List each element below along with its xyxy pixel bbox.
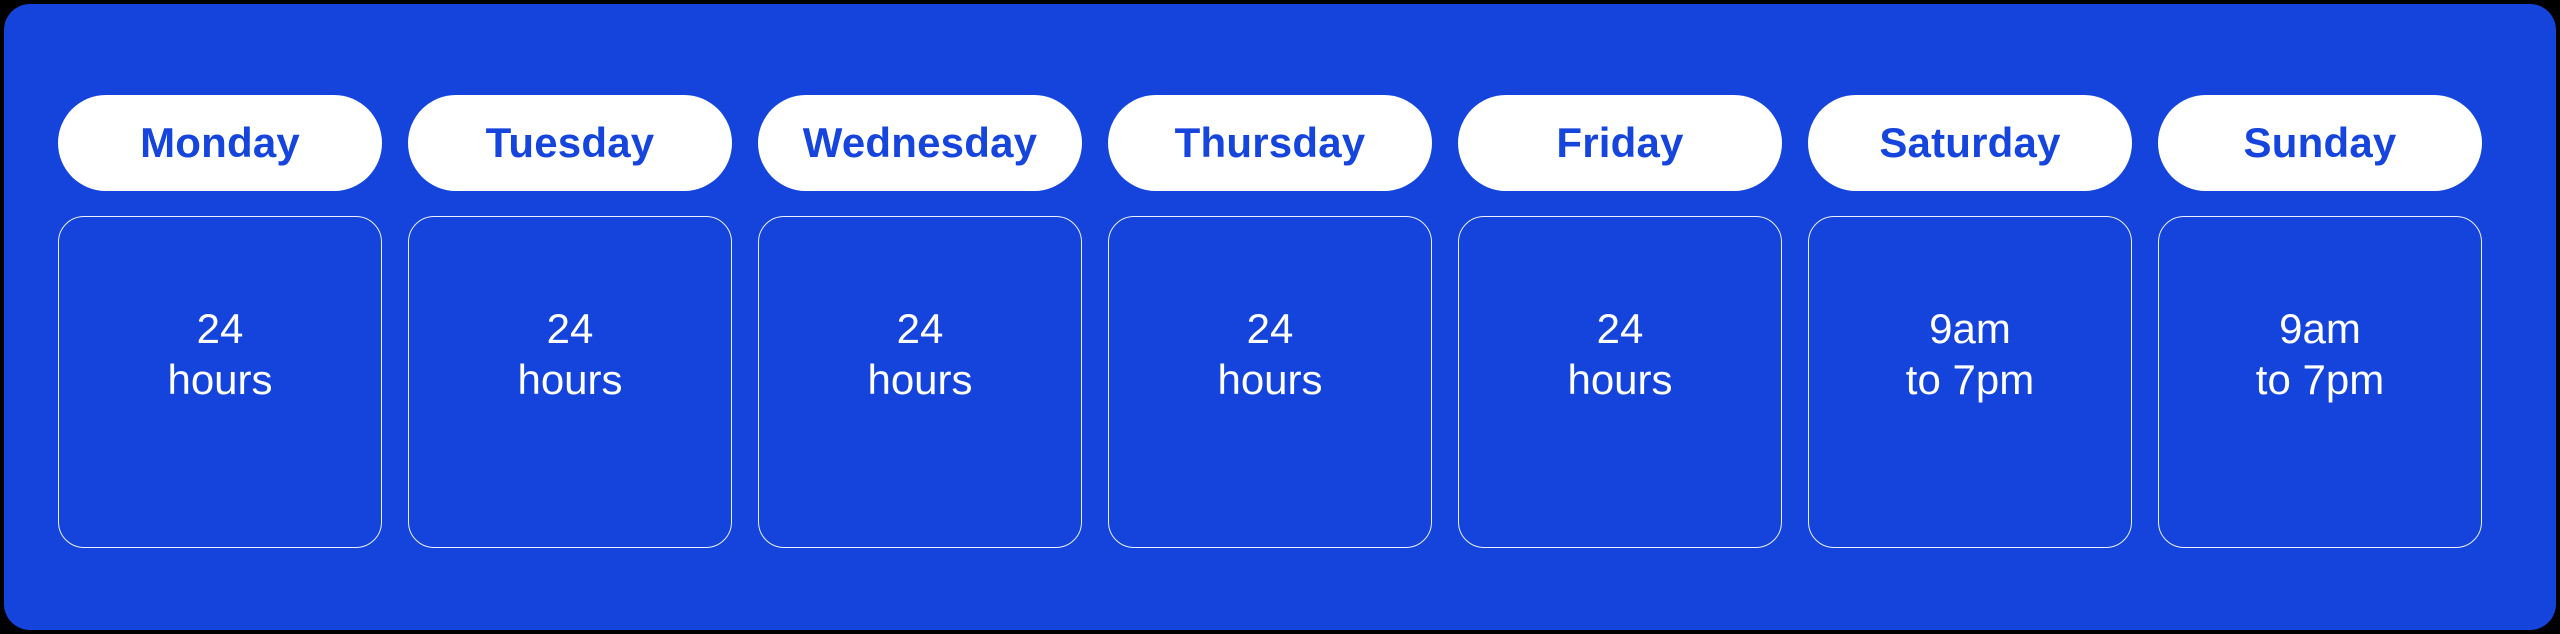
hours-card-saturday[interactable]: 9am to 7pm: [1808, 216, 2132, 548]
day-column-friday: Friday 24 hours: [1458, 95, 1782, 548]
day-pill-thursday[interactable]: Thursday: [1108, 95, 1432, 191]
day-pill-label-friday: Friday: [1556, 122, 1683, 164]
day-pill-monday[interactable]: Monday: [58, 95, 382, 191]
day-column-wednesday: Wednesday 24 hours: [758, 95, 1082, 548]
week-schedule-grid: Monday 24 hours Tuesday 24 hours Wednesd…: [58, 95, 2482, 548]
hours-card-monday[interactable]: 24 hours: [58, 216, 382, 548]
day-pill-label-tuesday: Tuesday: [486, 122, 655, 164]
day-pill-label-sunday: Sunday: [2244, 122, 2397, 164]
day-pill-tuesday[interactable]: Tuesday: [408, 95, 732, 191]
hours-card-wednesday[interactable]: 24 hours: [758, 216, 1082, 548]
hours-text-sunday: 9am to 7pm: [2256, 303, 2384, 405]
hours-card-tuesday[interactable]: 24 hours: [408, 216, 732, 548]
hours-text-thursday: 24 hours: [1217, 303, 1322, 405]
day-column-monday: Monday 24 hours: [58, 95, 382, 548]
hours-card-sunday[interactable]: 9am to 7pm: [2158, 216, 2482, 548]
day-column-tuesday: Tuesday 24 hours: [408, 95, 732, 548]
day-pill-saturday[interactable]: Saturday: [1808, 95, 2132, 191]
day-column-saturday: Saturday 9am to 7pm: [1808, 95, 2132, 548]
hours-text-monday: 24 hours: [167, 303, 272, 405]
day-pill-label-wednesday: Wednesday: [803, 122, 1037, 164]
day-pill-wednesday[interactable]: Wednesday: [758, 95, 1082, 191]
hours-card-friday[interactable]: 24 hours: [1458, 216, 1782, 548]
day-pill-label-monday: Monday: [140, 122, 300, 164]
hours-text-saturday: 9am to 7pm: [1906, 303, 2034, 405]
day-column-thursday: Thursday 24 hours: [1108, 95, 1432, 548]
day-pill-sunday[interactable]: Sunday: [2158, 95, 2482, 191]
opening-hours-panel: Monday 24 hours Tuesday 24 hours Wednesd…: [4, 4, 2556, 630]
hours-text-wednesday: 24 hours: [867, 303, 972, 405]
day-pill-friday[interactable]: Friday: [1458, 95, 1782, 191]
hours-card-thursday[interactable]: 24 hours: [1108, 216, 1432, 548]
day-pill-label-thursday: Thursday: [1175, 122, 1366, 164]
hours-text-tuesday: 24 hours: [517, 303, 622, 405]
day-pill-label-saturday: Saturday: [1879, 122, 2060, 164]
hours-text-friday: 24 hours: [1567, 303, 1672, 405]
day-column-sunday: Sunday 9am to 7pm: [2158, 95, 2482, 548]
